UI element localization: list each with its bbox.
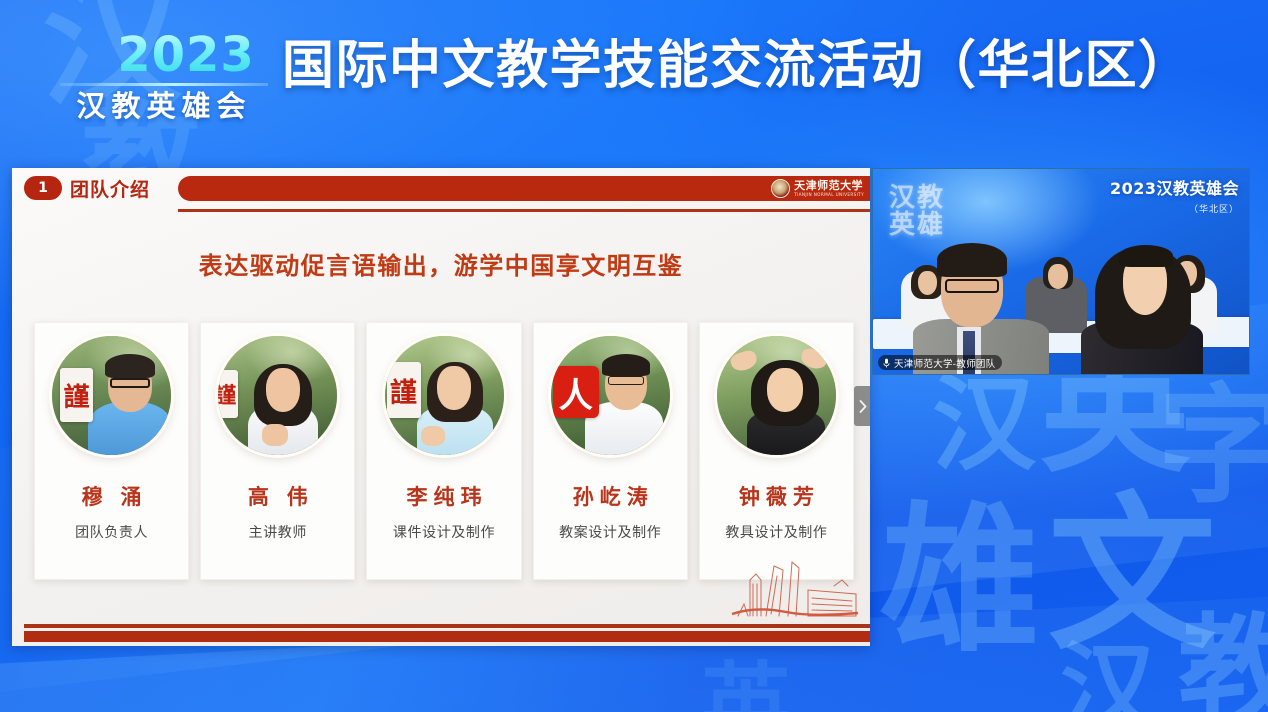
video-participant-foreground bbox=[945, 279, 999, 293]
slide-footer-line bbox=[24, 624, 870, 628]
slide-footer-bar bbox=[24, 631, 870, 642]
microphone-icon bbox=[883, 358, 890, 368]
video-brand-title: 2023汉教英雄会 bbox=[1110, 175, 1239, 199]
avatar-sign: 謹 bbox=[218, 370, 238, 418]
avatar: 謹 bbox=[52, 336, 171, 455]
member-name: 钟薇芳 bbox=[733, 481, 820, 511]
member-role: 团队负责人 bbox=[75, 522, 148, 542]
member-role: 教具设计及制作 bbox=[725, 522, 827, 542]
video-watermark-line2: 英雄 bbox=[889, 212, 945, 239]
university-name-en: TIANJIN NORMAL UNIVERSITY bbox=[794, 193, 864, 197]
video-brand: 2023汉教英雄会 （华北区） bbox=[1110, 175, 1239, 215]
chevron-right-icon bbox=[859, 400, 867, 413]
list-item[interactable]: 謹 李纯玮 课件设计及制作 bbox=[366, 322, 521, 580]
member-name: 穆 涌 bbox=[76, 481, 148, 511]
video-watermark-line1: 汉教 bbox=[889, 185, 945, 212]
watermark-char: 汉 bbox=[932, 372, 1036, 476]
member-role: 教案设计及制作 bbox=[559, 522, 661, 542]
avatar-sign: 人 bbox=[553, 366, 599, 418]
participant-name-text: 天津师范大学-教师团队 bbox=[894, 356, 995, 370]
member-name: 孙屹涛 bbox=[567, 481, 654, 511]
avatar-sign: 謹 bbox=[387, 362, 421, 418]
avatar: 人 bbox=[551, 336, 670, 455]
slide-header-bar bbox=[178, 176, 870, 201]
section-number-badge: 1 bbox=[24, 176, 62, 200]
avatar: 謹 bbox=[385, 336, 504, 455]
video-brand-region: （华北区） bbox=[1110, 202, 1239, 215]
participant-name-badge: 天津师范大学-教师团队 bbox=[878, 355, 1002, 370]
avatar: 謹 bbox=[218, 336, 337, 455]
member-role: 课件设计及制作 bbox=[393, 522, 495, 542]
university-seal-icon bbox=[771, 179, 790, 198]
list-item[interactable]: 謹 高 伟 主讲教师 bbox=[200, 322, 355, 580]
list-item[interactable]: 钟薇芳 教具设计及制作 bbox=[699, 322, 854, 580]
video-participant bbox=[1048, 264, 1068, 289]
event-logo-year: 2023 bbox=[66, 32, 306, 78]
list-item[interactable]: 人 孙屹涛 教案设计及制作 bbox=[533, 322, 688, 580]
member-role: 主讲教师 bbox=[249, 522, 307, 542]
watermark-char: 英 bbox=[700, 660, 792, 712]
video-participant-foreground bbox=[1119, 245, 1173, 267]
page-title: 国际中文教学技能交流活动（华北区） bbox=[282, 36, 1192, 97]
slide-header-underline bbox=[178, 209, 870, 212]
event-logo-name: 汉教英雄会 bbox=[44, 83, 284, 125]
watermark-char: 教 bbox=[1178, 612, 1268, 712]
university-logo: 天津师范大学 TIANJIN NORMAL UNIVERSITY bbox=[771, 177, 864, 200]
video-feed-panel[interactable]: 汉教 英雄 2023汉教英雄会 （华北区） 天津师范大学-教师团队 bbox=[872, 168, 1250, 375]
page-header: 2023 汉教英雄会 国际中文教学技能交流活动（华北区） bbox=[0, 0, 1268, 152]
slide-subtitle: 表达驱动促言语输出，游学中国享文明互鉴 bbox=[12, 246, 870, 281]
event-logo: 2023 汉教英雄会 bbox=[44, 32, 284, 118]
decorative-sketch bbox=[730, 560, 860, 618]
video-participant bbox=[918, 271, 937, 295]
member-name: 李纯玮 bbox=[401, 481, 488, 511]
video-participant-foreground bbox=[937, 243, 1007, 277]
presentation-slide[interactable]: 1 团队介绍 天津师范大学 TIANJIN NORMAL UNIVERSITY … bbox=[12, 168, 870, 646]
member-name: 高 伟 bbox=[242, 481, 314, 511]
team-member-list: 謹 穆 涌 团队负责人 謹 高 伟 主讲教师 bbox=[34, 322, 854, 580]
watermark-char: 汉 bbox=[1060, 640, 1156, 712]
slide-header: 1 团队介绍 天津师范大学 TIANJIN NORMAL UNIVERSITY bbox=[12, 168, 870, 220]
next-slide-button[interactable] bbox=[854, 386, 870, 426]
university-name-cn: 天津师范大学 bbox=[794, 180, 864, 191]
video-watermark: 汉教 英雄 bbox=[889, 185, 945, 238]
event-logo-rule bbox=[60, 83, 268, 86]
avatar-sign: 謹 bbox=[60, 368, 93, 422]
avatar bbox=[717, 336, 836, 455]
watermark-char: 雄 bbox=[880, 500, 1040, 660]
list-item[interactable]: 謹 穆 涌 团队负责人 bbox=[34, 322, 189, 580]
section-title: 团队介绍 bbox=[70, 175, 150, 202]
